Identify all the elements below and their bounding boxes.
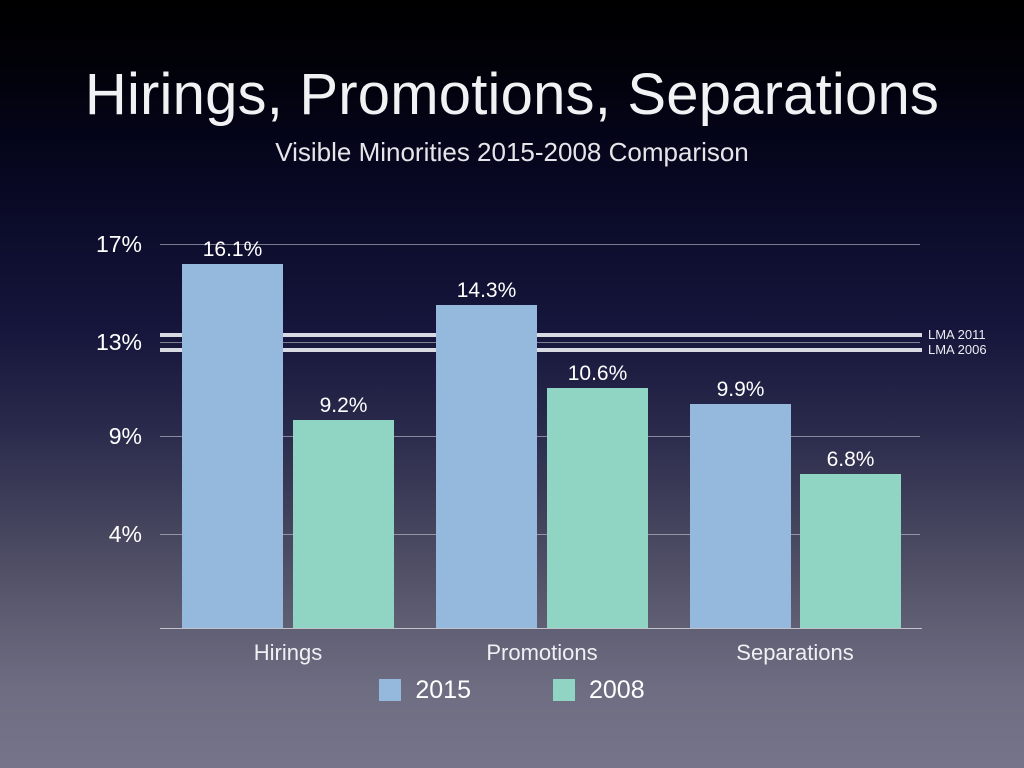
bar-value-promotions-2015: 14.3% bbox=[426, 279, 547, 303]
bar-value-separations-2008: 6.8% bbox=[790, 448, 911, 472]
slide-canvas: Hirings, Promotions, Separations Visible… bbox=[0, 0, 1024, 768]
legend-label-2015: 2015 bbox=[415, 676, 471, 704]
ytick-label-13: 13% bbox=[72, 331, 142, 354]
bar-chart: 17% 13% 9% 4% LMA 2011 LMA 2006 16.1% 9.… bbox=[0, 0, 1024, 768]
bar-hirings-2015[interactable] bbox=[182, 264, 283, 628]
reference-label-lma-2006: LMA 2006 bbox=[928, 343, 987, 357]
bar-separations-2015[interactable] bbox=[690, 404, 791, 628]
ytick-label-9: 9% bbox=[72, 425, 142, 448]
legend-item-2015[interactable]: 2015 bbox=[379, 676, 471, 704]
reference-label-lma-2011: LMA 2011 bbox=[928, 328, 986, 342]
chart-legend: 2015 2008 bbox=[0, 676, 1024, 704]
ytick-label-4: 4% bbox=[72, 523, 142, 546]
bar-hirings-2008[interactable] bbox=[293, 420, 394, 628]
category-label-separations: Separations bbox=[735, 640, 855, 666]
ytick-9: 9% bbox=[22, 425, 142, 448]
x-axis-baseline bbox=[160, 628, 922, 629]
bar-value-promotions-2008: 10.6% bbox=[537, 362, 658, 386]
bar-promotions-2008[interactable] bbox=[547, 388, 648, 628]
bar-value-hirings-2008: 9.2% bbox=[283, 394, 404, 418]
bar-separations-2008[interactable] bbox=[800, 474, 901, 628]
ytick-4: 4% bbox=[22, 523, 142, 546]
bar-value-separations-2015: 9.9% bbox=[680, 378, 801, 402]
bar-value-hirings-2015: 16.1% bbox=[172, 238, 293, 262]
category-label-promotions: Promotions bbox=[482, 640, 602, 666]
legend-item-2008[interactable]: 2008 bbox=[553, 676, 645, 704]
ytick-label-17: 17% bbox=[72, 233, 142, 256]
legend-swatch-2008 bbox=[553, 679, 575, 701]
category-label-hirings: Hirings bbox=[228, 640, 348, 666]
legend-label-2008: 2008 bbox=[589, 676, 645, 704]
ytick-13: 13% bbox=[22, 331, 142, 354]
ytick-17: 17% bbox=[22, 233, 142, 256]
bar-promotions-2015[interactable] bbox=[436, 305, 537, 628]
legend-swatch-2015 bbox=[379, 679, 401, 701]
